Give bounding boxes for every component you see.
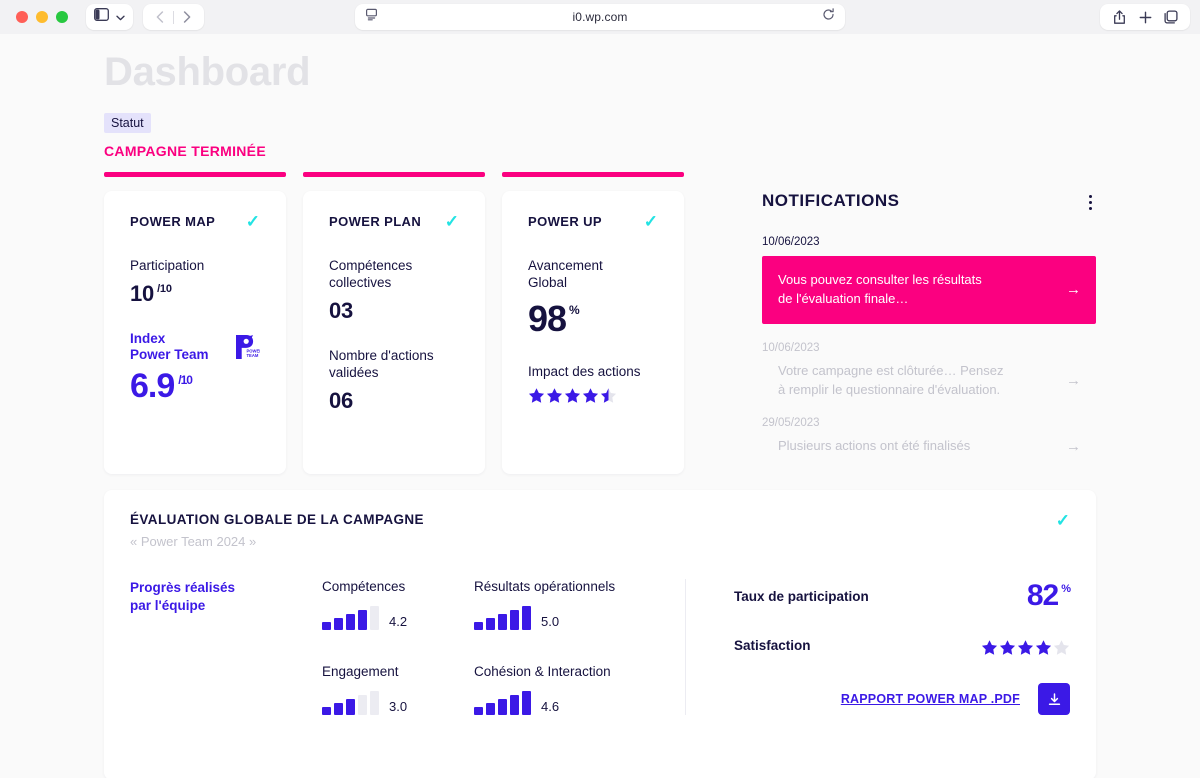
- index-label: Index Power Team: [130, 331, 209, 363]
- bar-segment: [486, 618, 495, 630]
- bar-segment: [510, 695, 519, 715]
- card-title: POWER MAP: [130, 214, 215, 229]
- bar-metrics-grid: Compétences4.2Résultats opérationnels5.0…: [322, 579, 685, 715]
- kebab-menu-icon[interactable]: [1085, 191, 1096, 214]
- forward-arrow-icon[interactable]: [174, 4, 200, 30]
- satisfaction-star-5: [1053, 639, 1070, 656]
- bar-segment: [474, 707, 483, 715]
- evaluation-header: ÉVALUATION GLOBALE DE LA CAMPAGNE « Powe…: [130, 512, 1070, 549]
- card-header: POWER UP ✓: [528, 213, 658, 230]
- metric-score: 4.6: [541, 699, 559, 715]
- participation-value-wrap: 82 %: [1027, 579, 1070, 613]
- bar-chart: [322, 691, 379, 715]
- address-bar[interactable]: i0.wp.com: [355, 4, 845, 30]
- metric-label: Impact des actions: [528, 364, 658, 381]
- notification-date: 29/05/2023: [762, 417, 1096, 429]
- index-value-suffix: /10: [178, 373, 192, 387]
- metric-value-wrap: 98 %: [528, 298, 658, 340]
- back-arrow-icon[interactable]: [147, 4, 173, 30]
- metric-label: Cohésion & Interaction: [474, 664, 685, 679]
- satisfaction-row: Satisfaction: [734, 635, 1070, 656]
- evaluation-body: Progrès réalisés par l'équipe Compétence…: [130, 579, 1070, 715]
- evaluation-summary: Taux de participation 82 % Satisfaction …: [686, 579, 1070, 715]
- metric-participation: Participation 10 /10: [130, 258, 260, 307]
- metric-value: 98: [528, 298, 566, 340]
- bar-segment: [522, 691, 531, 715]
- notification-text: Plusieurs actions ont été finalisés: [778, 437, 970, 456]
- metric-value-wrap: 06: [329, 388, 459, 414]
- main-grid: POWER MAP ✓ Participation 10 /10: [104, 191, 1096, 474]
- check-icon: ✓: [1056, 512, 1070, 529]
- plus-icon[interactable]: [1132, 4, 1158, 30]
- metric-bar-row: 5.0: [474, 606, 685, 630]
- metric-bar-row: 4.6: [474, 691, 685, 715]
- evaluation-title: ÉVALUATION GLOBALE DE LA CAMPAGNE: [130, 512, 424, 527]
- notification-entry: 10/06/2023 Votre campagne est clôturée… …: [762, 342, 1096, 400]
- metric-value-wrap: 03: [329, 298, 459, 324]
- participation-rate-row: Taux de participation 82 %: [734, 579, 1070, 613]
- star-4: [582, 387, 599, 404]
- progress-label-line2: par l'équipe: [130, 598, 205, 613]
- metric-impact-actions: Impact des actions: [528, 364, 658, 404]
- sidebar-icon[interactable]: [94, 8, 109, 26]
- index-label-line2: Power Team: [130, 347, 209, 362]
- progress-section-label: Progrès réalisés par l'équipe: [130, 579, 322, 715]
- star-1: [528, 387, 545, 404]
- notification-entry: 29/05/2023 Plusieurs actions ont été fin…: [762, 417, 1096, 456]
- bar-chart: [322, 606, 379, 630]
- metric-label: Compétences: [322, 579, 474, 594]
- bar-chart: [474, 691, 531, 715]
- reader-view-icon[interactable]: [365, 8, 378, 26]
- reload-icon[interactable]: [822, 8, 835, 26]
- metric-score: 5.0: [541, 614, 559, 630]
- progress-bar-powerup: [502, 172, 684, 177]
- arrow-right-icon[interactable]: →: [1066, 438, 1081, 455]
- metric-competences-collectives: Compétences collectives 03: [329, 258, 459, 324]
- index-value-wrap: 6.9 /10: [130, 367, 260, 406]
- bar-segment: [370, 691, 379, 715]
- star-3: [564, 387, 581, 404]
- metric-index-power-team: Index Power Team POWER TEA: [130, 331, 260, 406]
- satisfaction-label: Satisfaction: [734, 638, 811, 653]
- card-header: POWER PLAN ✓: [329, 213, 459, 230]
- metric-score: 3.0: [389, 699, 407, 715]
- participation-label: Taux de participation: [734, 589, 869, 604]
- status-row: Statut CAMPAGNE TERMINÉE: [104, 113, 1096, 177]
- bar-segment: [370, 606, 379, 630]
- metric-actions-validees: Nombre d'actions validées 06: [329, 348, 459, 414]
- index-value: 6.9: [130, 367, 174, 406]
- satisfaction-star-2: [999, 639, 1016, 656]
- evaluation-titles: ÉVALUATION GLOBALE DE LA CAMPAGNE « Powe…: [130, 512, 424, 549]
- metric-value-suffix: %: [569, 303, 579, 317]
- bar-segment: [358, 695, 367, 715]
- metric-value: 06: [329, 388, 353, 414]
- metric-r-sultats-op-rationnels: Résultats opérationnels5.0: [474, 579, 685, 630]
- notification-date: 10/06/2023: [762, 236, 1096, 248]
- satisfaction-stars: [981, 639, 1070, 656]
- bar-segment: [486, 703, 495, 715]
- evaluation-metrics: Progrès réalisés par l'équipe Compétence…: [130, 579, 685, 715]
- bar-segment: [510, 610, 519, 630]
- index-label-line1: Index: [130, 331, 165, 346]
- check-icon: ✓: [445, 213, 459, 230]
- metric-value: 03: [329, 298, 353, 324]
- notification-text-line1: Votre campagne est clôturée… Pensez: [778, 363, 1003, 378]
- notification-text-line1: Plusieurs actions ont été finalisés: [778, 438, 970, 453]
- metric-label-line1: Compétences: [329, 258, 412, 273]
- notification-item[interactable]: Votre campagne est clôturée… Pensez à re…: [762, 362, 1096, 400]
- check-icon: ✓: [246, 213, 260, 230]
- metric-value: 10: [130, 281, 154, 307]
- metric-label-line2: collectives: [329, 275, 391, 290]
- metric-coh-sion-interaction: Cohésion & Interaction4.6: [474, 664, 685, 715]
- page-title: Dashboard: [104, 50, 1096, 95]
- metric-avancement-global: Avancement Global 98 %: [528, 258, 658, 340]
- bar-segment: [474, 622, 483, 630]
- browser-toolbar: i0.wp.com: [0, 0, 1200, 34]
- notification-text-line1: Vous pouvez consulter les résultats: [778, 272, 982, 287]
- metric-label: Résultats opérationnels: [474, 579, 685, 594]
- metric-value-suffix: /10: [157, 283, 172, 295]
- metric-label: Nombre d'actions validées: [329, 348, 459, 382]
- star-5: [600, 387, 617, 404]
- report-download-row: RAPPORT POWER MAP .PDF: [734, 683, 1070, 715]
- metric-comp-tences: Compétences4.2: [322, 579, 474, 630]
- page-content: Dashboard Statut CAMPAGNE TERMINÉE: [0, 34, 1200, 778]
- sidebar-toggle-group[interactable]: [86, 4, 133, 30]
- card-power-plan[interactable]: POWER PLAN ✓ Compétences collectives 03: [303, 191, 485, 474]
- notification-text-line2: de l'évaluation finale…: [778, 291, 908, 306]
- metric-score: 4.2: [389, 614, 407, 630]
- progress-bars: [104, 172, 704, 177]
- rating-stars: [528, 387, 658, 404]
- index-header-row: Index Power Team POWER TEA: [130, 331, 260, 363]
- svg-text:TEAM: TEAM: [247, 353, 259, 358]
- bar-chart: [474, 606, 531, 630]
- bar-segment: [498, 699, 507, 715]
- card-power-map[interactable]: POWER MAP ✓ Participation 10 /10: [104, 191, 286, 474]
- notifications-title: NOTIFICATIONS: [762, 191, 899, 211]
- bar-segment: [322, 622, 331, 630]
- window-controls: [16, 11, 68, 23]
- arrow-right-icon[interactable]: →: [1066, 281, 1081, 298]
- close-window-button[interactable]: [16, 11, 28, 23]
- metric-label-line2: validées: [329, 365, 379, 380]
- notifications-panel: NOTIFICATIONS 10/06/2023 Vous pouvez con…: [704, 191, 1096, 474]
- star-2: [546, 387, 563, 404]
- notifications-header: NOTIFICATIONS: [762, 191, 1096, 214]
- notification-date: 10/06/2023: [762, 342, 1096, 354]
- metric-label: Engagement: [322, 664, 474, 679]
- bar-segment: [498, 614, 507, 630]
- notification-text-line2: à remplir le questionnaire d'évaluation.: [778, 382, 1000, 397]
- metric-engagement: Engagement3.0: [322, 664, 474, 715]
- status-badge: Statut: [104, 113, 151, 133]
- evaluation-subtitle: « Power Team 2024 »: [130, 534, 424, 549]
- arrow-right-icon[interactable]: →: [1066, 372, 1081, 389]
- report-link[interactable]: RAPPORT POWER MAP .PDF: [841, 692, 1020, 706]
- metric-label: Compétences collectives: [329, 258, 459, 292]
- metric-value-wrap: 10 /10: [130, 281, 260, 307]
- notification-entry: 10/06/2023 Vous pouvez consulter les rés…: [762, 236, 1096, 324]
- satisfaction-star-4: [1035, 639, 1052, 656]
- download-icon[interactable]: [1038, 683, 1070, 715]
- notification-item-active[interactable]: Vous pouvez consulter les résultats de l…: [762, 256, 1096, 324]
- bar-segment: [334, 703, 343, 715]
- metric-label: Avancement Global: [528, 258, 658, 292]
- evaluation-panel: ÉVALUATION GLOBALE DE LA CAMPAGNE « Powe…: [104, 490, 1096, 778]
- metric-label: Participation: [130, 258, 260, 275]
- navigation-buttons: [143, 4, 204, 30]
- campaign-status-text: CAMPAGNE TERMINÉE: [104, 143, 704, 159]
- metric-cards: POWER MAP ✓ Participation 10 /10: [104, 191, 704, 474]
- tab-overview-icon[interactable]: [1158, 4, 1184, 30]
- participation-value: 82: [1027, 579, 1058, 613]
- metric-label-line1: Nombre d'actions: [329, 348, 434, 363]
- chevron-down-icon[interactable]: [116, 8, 125, 26]
- bar-segment: [334, 618, 343, 630]
- browser-window: i0.wp.com: [0, 0, 1200, 778]
- power-team-logo: POWER TEAM: [230, 332, 260, 362]
- bar-segment: [346, 614, 355, 630]
- url-text[interactable]: i0.wp.com: [378, 10, 822, 24]
- progress-bar-powermap: [104, 172, 286, 177]
- notification-text: Vous pouvez consulter les résultats de l…: [778, 271, 982, 309]
- minimize-window-button[interactable]: [36, 11, 48, 23]
- satisfaction-star-3: [1017, 639, 1034, 656]
- bar-segment: [322, 707, 331, 715]
- toolbar-right-group: [1100, 4, 1190, 30]
- progress-label: Progrès réalisés par l'équipe: [130, 579, 322, 614]
- bar-segment: [522, 606, 531, 630]
- card-title: POWER PLAN: [329, 214, 421, 229]
- bar-segment: [358, 610, 367, 630]
- notification-text: Votre campagne est clôturée… Pensez à re…: [778, 362, 1003, 400]
- notification-item[interactable]: Plusieurs actions ont été finalisés →: [762, 437, 1096, 456]
- card-power-up[interactable]: POWER UP ✓ Avancement Global 98 %: [502, 191, 684, 474]
- metric-label-line2: Global: [528, 275, 567, 290]
- metric-bar-row: 3.0: [322, 691, 474, 715]
- participation-suffix: %: [1061, 583, 1070, 595]
- metric-label-line1: Avancement: [528, 258, 603, 273]
- maximize-window-button[interactable]: [56, 11, 68, 23]
- bar-segment: [346, 699, 355, 715]
- share-icon[interactable]: [1106, 4, 1132, 30]
- card-header: POWER MAP ✓: [130, 213, 260, 230]
- progress-bar-powerplan: [303, 172, 485, 177]
- check-icon: ✓: [644, 213, 658, 230]
- progress-label-line1: Progrès réalisés: [130, 580, 235, 595]
- metric-bar-row: 4.2: [322, 606, 474, 630]
- card-title: POWER UP: [528, 214, 602, 229]
- satisfaction-star-1: [981, 639, 998, 656]
